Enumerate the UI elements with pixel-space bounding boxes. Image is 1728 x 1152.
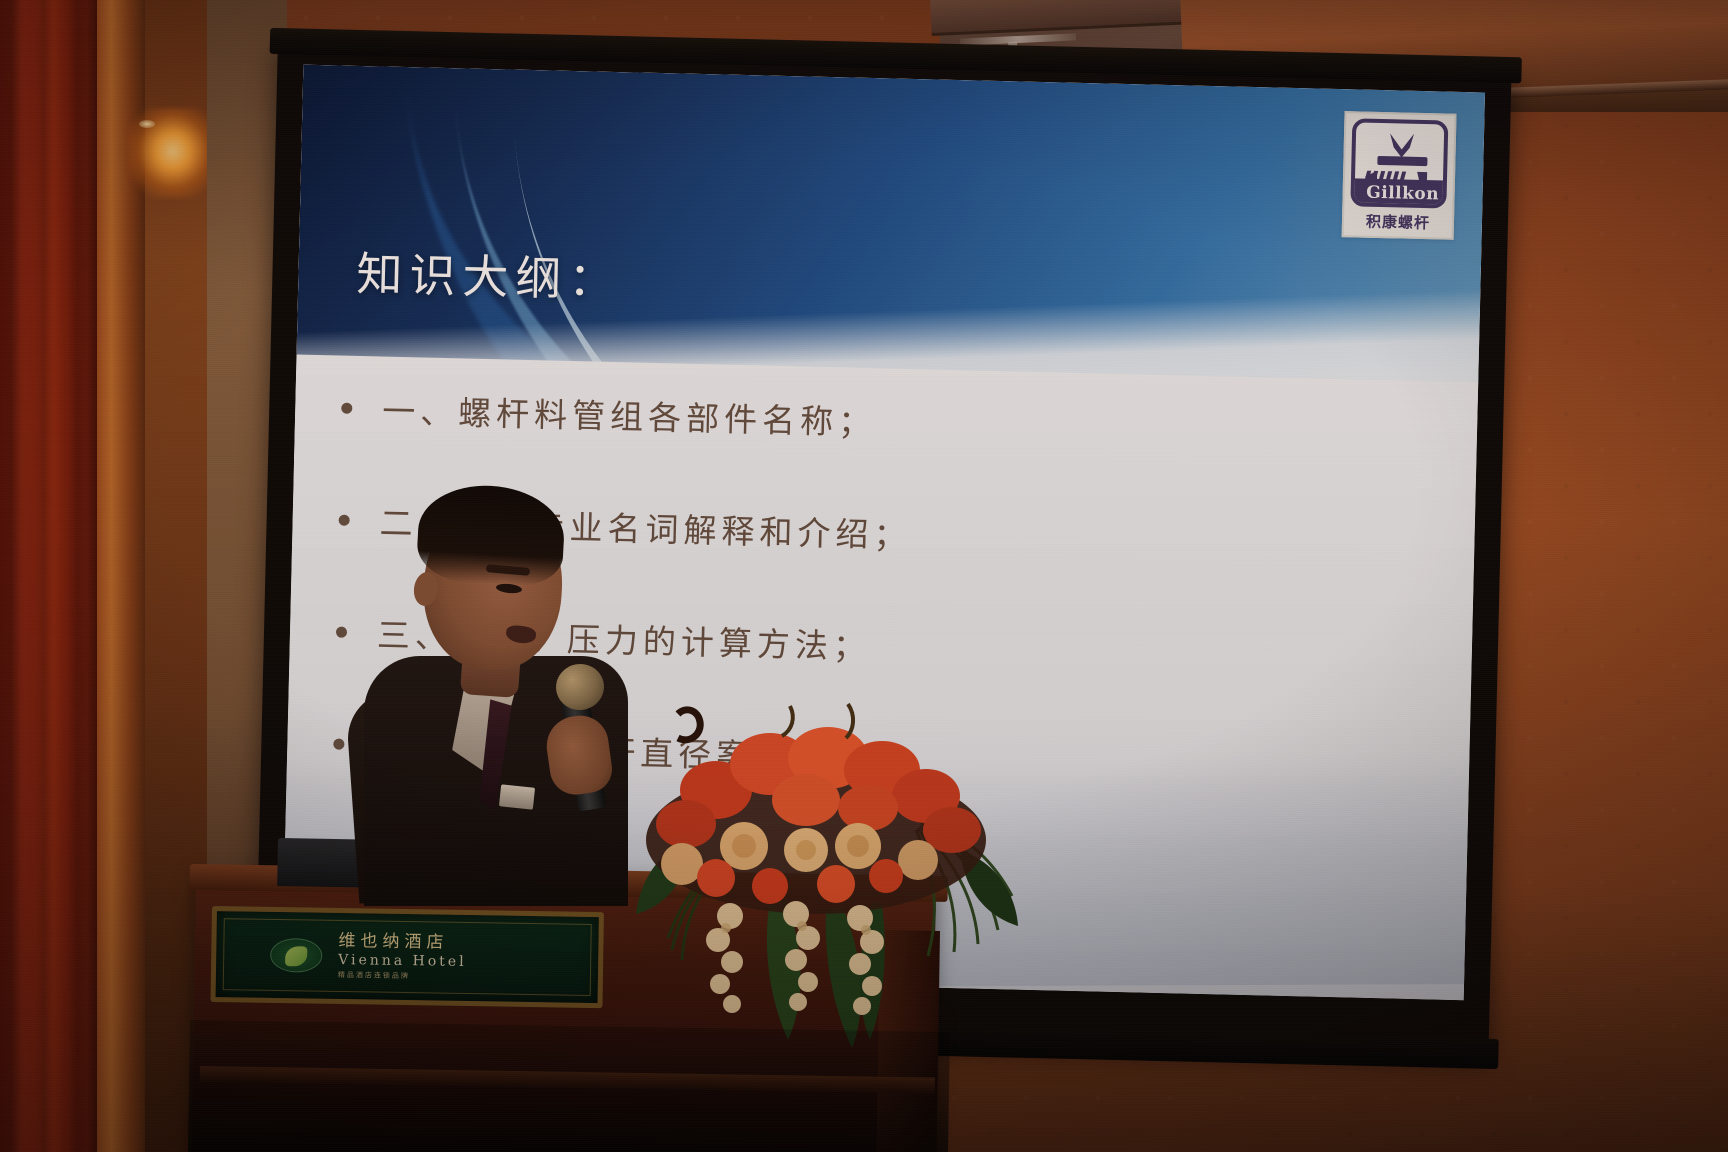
- curtain-folds: [0, 0, 97, 1152]
- swan-icon: [270, 938, 323, 973]
- podium-shadow: [188, 1020, 950, 1152]
- bullet-dot-icon: [339, 515, 350, 526]
- floral-arrangement-svg: [620, 700, 1040, 1060]
- presentation-photo-scene: 知识大纲： 一、螺杆料管组各部件名称； 二、螺杆专业名词解释和介绍； 三、……、…: [0, 0, 1728, 1152]
- floral-arrangement: [620, 700, 1040, 1060]
- wall-lamp-core: [140, 138, 192, 168]
- bullet-text: 一、螺杆料管组各部件名称；: [382, 385, 877, 445]
- bullet-dot-icon: [336, 627, 347, 638]
- bullet-dot-icon: [341, 403, 352, 414]
- venue-nameplate: 维也纳酒店 Vienna Hotel 精品酒店连锁品牌: [210, 906, 603, 1008]
- logo-brand-latin: Gillkon: [1350, 178, 1448, 208]
- wall-lamp-highlight: [139, 120, 155, 128]
- corporate-logo: Gillkon 积康螺杆: [1342, 111, 1457, 240]
- bullet-dot-icon: [333, 739, 344, 750]
- logo-brand-chinese: 积康螺杆: [1366, 211, 1430, 234]
- slide-title: 知识大纲：: [356, 238, 622, 310]
- name-badge: [499, 784, 535, 809]
- red-curtain: [0, 0, 97, 1152]
- screw-auger-icon: Gillkon: [1350, 118, 1448, 208]
